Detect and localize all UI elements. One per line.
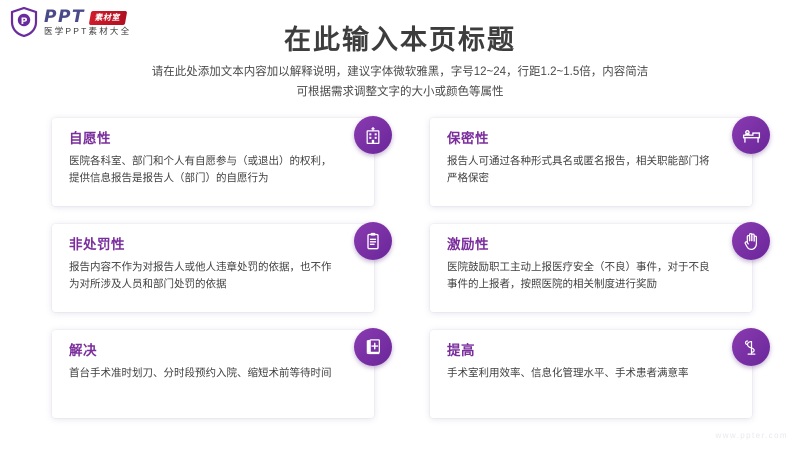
card-description: 报告内容不作为对报告人或他人违章处罚的依据，也不作为对所涉及人员和部门处罚的依据: [69, 259, 332, 293]
card-title: 提高: [447, 343, 710, 360]
card-description: 手术室利用效率、信息化管理水平、手术患者满意率: [447, 365, 710, 382]
card-title: 激励性: [447, 237, 710, 254]
hospital-bed-icon: [732, 116, 770, 154]
feature-card[interactable]: 保密性 报告人可通过各种形式具名或匿名报告，相关职能部门将严格保密: [430, 118, 752, 206]
card-description: 首台手术准时划刀、分时段预约入院、缩短术前等待时间: [69, 365, 332, 382]
site-watermark: www.ppter.com: [716, 431, 788, 440]
card-description: 报告人可通过各种形式具名或匿名报告，相关职能部门将严格保密: [447, 153, 710, 187]
feature-card-grid: 自愿性 医院各科室、部门和个人有自愿参与（或退出）的权利，提供信息报告是报告人（…: [52, 118, 752, 418]
card-description: 医院各科室、部门和个人有自愿参与（或退出）的权利，提供信息报告是报告人（部门）的…: [69, 153, 332, 187]
clipboard-icon: [354, 222, 392, 260]
card-description: 医院鼓励职工主动上报医疗安全（不良）事件，对于不良事件的上报者，按照医院的相关制…: [447, 259, 710, 293]
subtitle-line-2: 可根据需求调整文字的大小或颜色等属性: [0, 82, 800, 102]
page-subtitle: 请在此处添加文本内容加以解释说明，建议字体微软雅黑，字号12~24，行距1.2~…: [0, 62, 800, 102]
feature-card[interactable]: 解决 首台手术准时划刀、分时段预约入院、缩短术前等待时间: [52, 330, 374, 418]
feature-card[interactable]: 激励性 医院鼓励职工主动上报医疗安全（不良）事件，对于不良事件的上报者，按照医院…: [430, 224, 752, 312]
feature-card[interactable]: 自愿性 医院各科室、部门和个人有自愿参与（或退出）的权利，提供信息报告是报告人（…: [52, 118, 374, 206]
feature-card[interactable]: 提高 手术室利用效率、信息化管理水平、手术患者满意率: [430, 330, 752, 418]
card-title: 自愿性: [69, 131, 332, 148]
page-title: 在此输入本页标题: [0, 18, 800, 57]
raised-hand-icon: [732, 222, 770, 260]
feature-card[interactable]: 非处罚性 报告内容不作为对报告人或他人违章处罚的依据，也不作为对所涉及人员和部门…: [52, 224, 374, 312]
pharmacy-bowl-icon: [732, 328, 770, 366]
card-title: 保密性: [447, 131, 710, 148]
card-title: 解决: [69, 343, 332, 360]
subtitle-line-1: 请在此处添加文本内容加以解释说明，建议字体微软雅黑，字号12~24，行距1.2~…: [0, 62, 800, 82]
medical-book-icon: [354, 328, 392, 366]
hospital-building-icon: [354, 116, 392, 154]
card-title: 非处罚性: [69, 237, 332, 254]
